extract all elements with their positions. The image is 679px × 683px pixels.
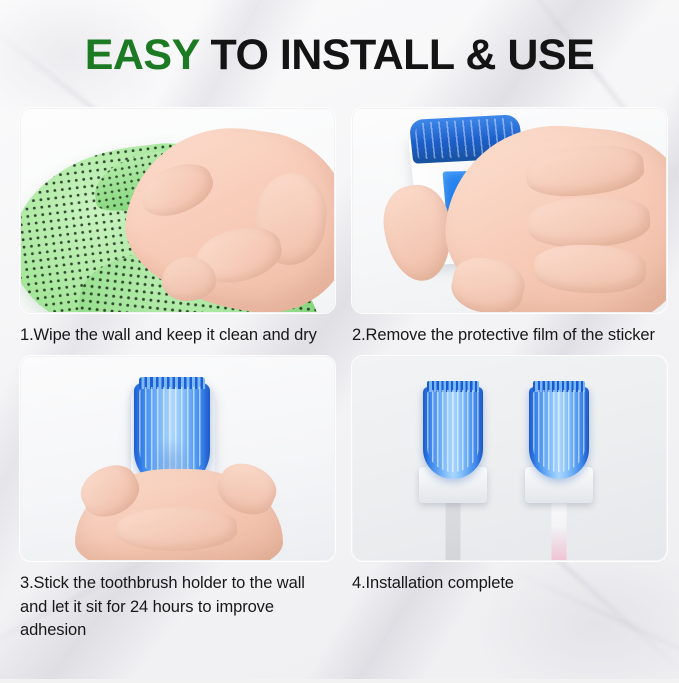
steps-grid: 1.Wipe the wall and keep it clean and dr… (20, 108, 665, 643)
step-2-photo (352, 108, 667, 313)
step-2-caption: 2.Remove the protective film of the stic… (352, 324, 665, 347)
steps-row-bottom: 3.Stick the toothbrush holder to the wal… (20, 356, 665, 642)
mounted-holder-right (521, 379, 597, 529)
step-4-photo (352, 356, 667, 561)
infographic-page: EASY TO INSTALL & USE 1.Wipe the wall an… (0, 0, 679, 679)
step-card-2: 2.Remove the protective film of the stic… (352, 108, 665, 347)
step-card-4: 4.Installation complete (352, 356, 665, 642)
thumb (162, 257, 216, 301)
page-title: EASY TO INSTALL & USE (0, 34, 679, 77)
step-4-caption: 4.Installation complete (352, 572, 665, 595)
holder-blue-head (423, 387, 483, 479)
step-1-caption: 1.Wipe the wall and keep it clean and dr… (20, 324, 333, 347)
steps-row-top: 1.Wipe the wall and keep it clean and dr… (20, 108, 665, 347)
step-card-3: 3.Stick the toothbrush holder to the wal… (20, 356, 333, 642)
title-highlight: EASY (85, 31, 199, 79)
mounted-holder-left (415, 379, 491, 529)
holder-blue-head (529, 387, 589, 479)
title-rest: TO INSTALL & USE (199, 31, 594, 79)
step-card-1: 1.Wipe the wall and keep it clean and dr… (20, 108, 333, 347)
step-1-photo (20, 108, 335, 313)
step-3-photo (20, 356, 335, 561)
step-3-caption: 3.Stick the toothbrush holder to the wal… (20, 572, 333, 642)
